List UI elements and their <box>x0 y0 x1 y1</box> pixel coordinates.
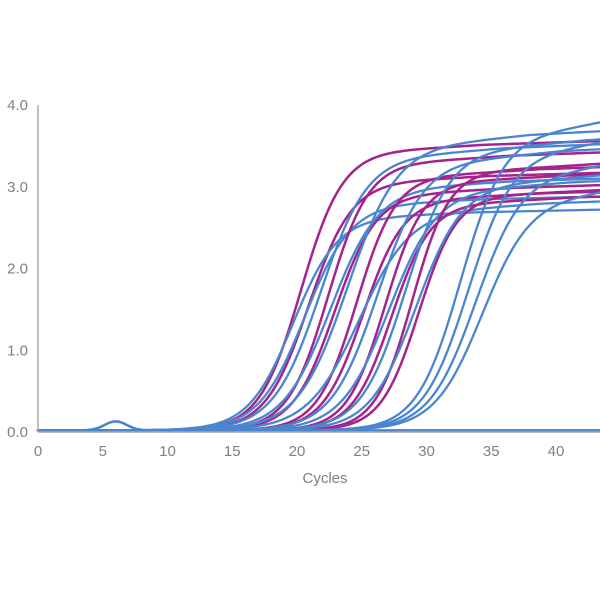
amplification-curve <box>38 143 600 431</box>
x-tick-label: 5 <box>99 443 107 460</box>
x-axis-title: Cycles <box>302 470 347 487</box>
curves-group <box>38 122 600 430</box>
x-tick-label: 30 <box>418 443 435 460</box>
x-tick-label: 35 <box>483 443 500 460</box>
x-tick-label: 10 <box>159 443 176 460</box>
y-tick-label: 3.0 <box>7 179 28 196</box>
y-tick-label: 1.0 <box>7 342 28 359</box>
qpcr-amplification-chart: 0.01.02.03.04.0 0510152025303540 Cycles <box>0 0 600 600</box>
x-tick-label: 20 <box>289 443 306 460</box>
x-tick-label: 15 <box>224 443 241 460</box>
x-tick-labels: 0510152025303540 <box>34 443 565 460</box>
x-tick-label: 0 <box>34 443 42 460</box>
amplification-curve <box>38 185 600 430</box>
amplification-curve <box>38 192 600 431</box>
y-tick-label: 0.0 <box>7 424 28 441</box>
y-tick-label: 4.0 <box>7 97 28 114</box>
amplification-curve <box>38 190 600 430</box>
x-tick-label: 25 <box>353 443 370 460</box>
amplification-curve <box>38 193 600 431</box>
x-tick-label: 40 <box>548 443 565 460</box>
y-tick-labels: 0.01.02.03.04.0 <box>7 97 28 441</box>
y-tick-label: 2.0 <box>7 261 28 278</box>
amplification-curve <box>38 149 600 430</box>
plot-area: 0.01.02.03.04.0 0510152025303540 Cycles <box>0 0 600 600</box>
